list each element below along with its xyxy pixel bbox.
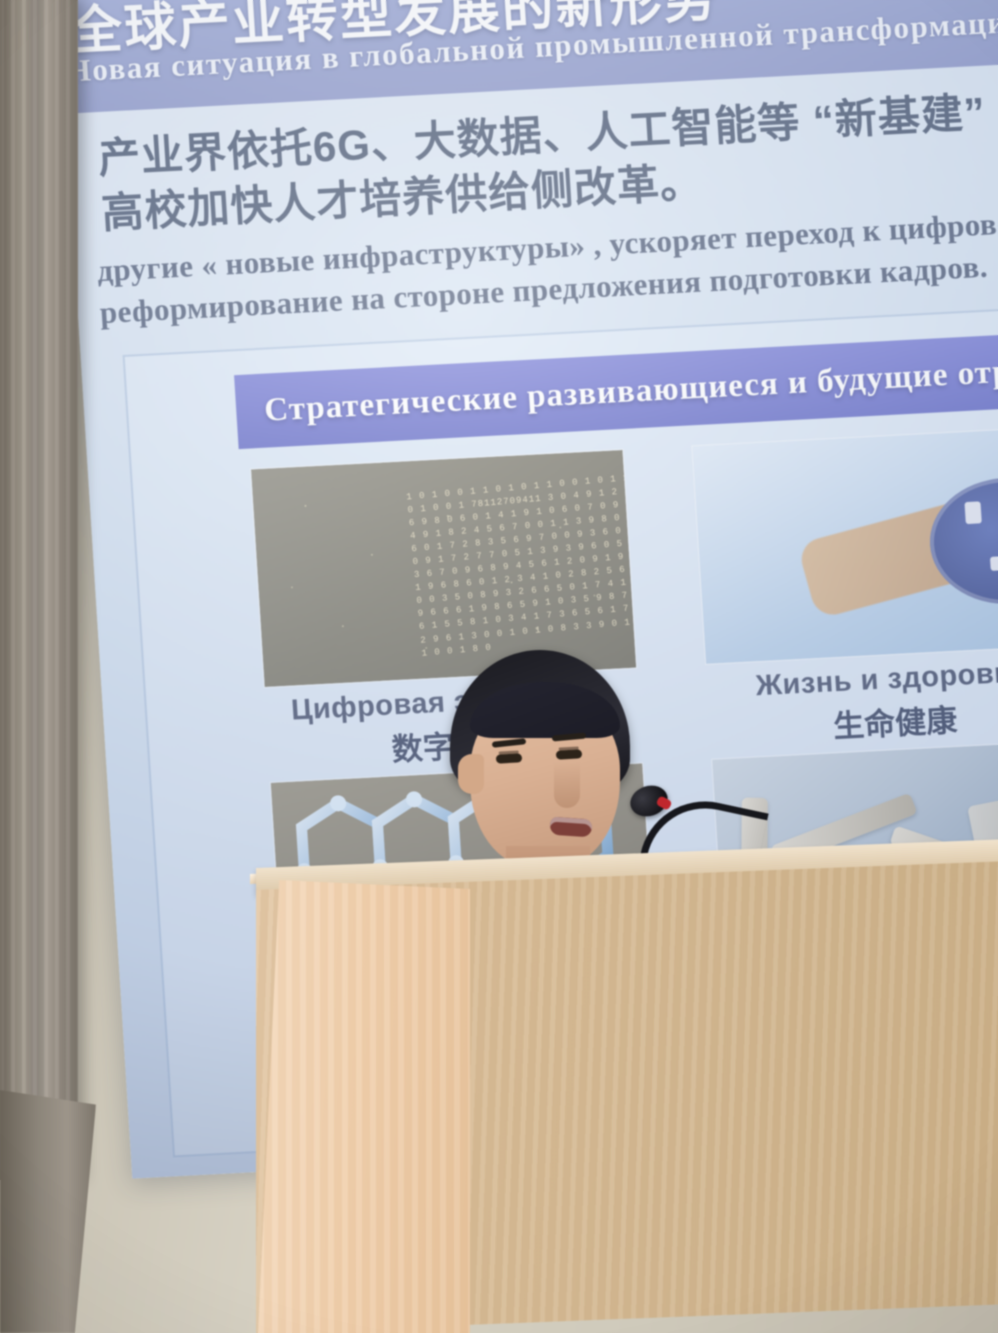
podium-front-panel	[258, 880, 470, 1333]
caption-life-health: Жизнь и здоровье 生命健康	[706, 653, 998, 752]
section-banner-label: Стратегические развивающиеся и будущие о…	[263, 349, 998, 429]
speaker-ear	[458, 754, 484, 794]
cell-life-health: Жизнь и здоровье 生命健康	[691, 426, 998, 745]
section-banner: Стратегические развивающиеся и будущие о…	[234, 332, 998, 449]
speaker-eye-right	[556, 749, 582, 759]
smartwatch-shape	[926, 474, 998, 608]
speaker-eye-left	[496, 753, 522, 763]
stage-curtain	[0, 0, 78, 1180]
health-glyph-icon	[964, 501, 981, 524]
binary-code-text: 1 0 1 0 0 1 1 0 1 0 1 1 0 0 1 0 1 1 0 1 …	[406, 472, 637, 661]
wearable-health-art	[692, 427, 998, 664]
presentation-photo: 全球产业转型发展的新形势 Новая ситуация в глобальной…	[0, 0, 998, 1333]
camera-glyph-icon	[990, 556, 998, 571]
speaker-face	[470, 692, 620, 867]
speaker-nose	[554, 762, 580, 808]
speaker-mouth	[549, 817, 592, 838]
thumb-life-health	[691, 426, 998, 665]
